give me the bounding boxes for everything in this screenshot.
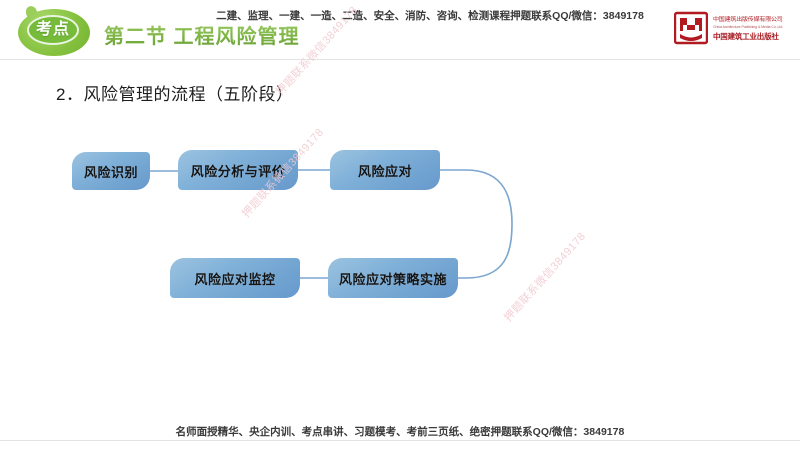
flow-node-risk-identification[interactable]: 风险识别	[72, 152, 150, 190]
footer-divider	[0, 440, 800, 441]
flow-node-risk-response-monitoring[interactable]: 风险应对监控	[170, 258, 300, 298]
slide-canvas: 考点 二建、监理、一建、一造、二造、安全、消防、咨询、检测课程押题联系QQ/微信…	[0, 0, 800, 450]
footer-text: 名师面授精华、央企内训、考点串讲、习题模考、考前三页纸、绝密押题联系QQ/微信：…	[0, 424, 800, 439]
flow-node-risk-response-strategy-implementation[interactable]: 风险应对策略实施	[328, 258, 458, 298]
flow-connectors	[0, 0, 800, 450]
flow-node-risk-response[interactable]: 风险应对	[330, 150, 440, 190]
